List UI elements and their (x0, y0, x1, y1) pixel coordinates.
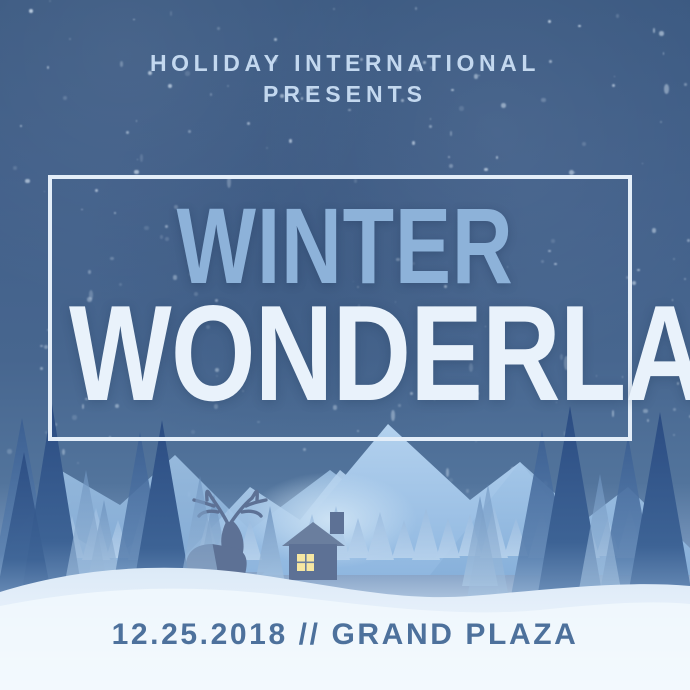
header-block: HOLIDAY INTERNATIONAL PRESENTS (0, 48, 690, 110)
header-line-2: PRESENTS (0, 79, 690, 110)
main-title: WINTER WONDERLAND (0, 198, 690, 412)
window-mullion-h (297, 562, 314, 564)
chimney (330, 512, 344, 534)
header-line-1: HOLIDAY INTERNATIONAL (0, 48, 690, 79)
event-details: 12.25.2018 // GRAND PLAZA (0, 618, 690, 652)
title-line-wonderland: WONDERLAND (69, 294, 621, 412)
winter-wonderland-poster: HOLIDAY INTERNATIONAL PRESENTS WINTER WO… (0, 0, 690, 690)
